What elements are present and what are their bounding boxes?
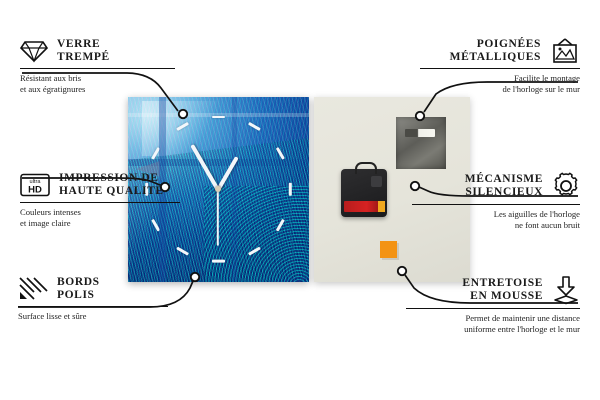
glass-gleam <box>142 101 225 157</box>
feature-rule <box>420 68 580 69</box>
hour-marker <box>212 116 225 119</box>
feature-title-line2: TREMPÉ <box>57 51 110 64</box>
feature-rule <box>412 204 580 205</box>
hour-marker <box>212 260 225 263</box>
feature-title-line1: VERRE <box>57 38 110 51</box>
feature-entretoise-en-mousse: ENTRETOISE EN MOUSSE Permet de maintenir… <box>380 276 580 334</box>
feature-title-line2: POLIS <box>57 289 100 302</box>
feature-rule <box>406 308 580 309</box>
diamond-icon <box>20 39 48 63</box>
feature-subtitle-line1: Surface lisse et sûre <box>18 311 193 321</box>
picture-hanger-icon <box>550 38 580 64</box>
feature-impression-haute-qualite: ultra HD IMPRESSION DE HAUTE QUALITÉ Cou… <box>20 172 205 228</box>
hour-marker <box>289 182 292 195</box>
grid-line-vertical <box>232 97 237 282</box>
feature-rule <box>18 306 168 307</box>
gear-icon <box>552 172 580 200</box>
hands-hub <box>215 186 221 192</box>
hour-marker <box>248 122 261 131</box>
feature-subtitle-line1: Facilite le montage <box>395 73 580 83</box>
mechanism-hook <box>355 162 377 174</box>
ultra-hd-icon: ultra HD <box>20 173 50 197</box>
feature-title-line2: SILENCIEUX <box>465 186 543 199</box>
feature-subtitle-line2: uniforme entre l'horloge et le mur <box>380 324 580 334</box>
feature-subtitle-line2: et image claire <box>20 218 205 228</box>
foam-spacer-icon <box>552 276 580 304</box>
feature-title-line1: BORDS <box>57 276 100 289</box>
foam-spacer <box>380 241 397 258</box>
feature-title-line1: MÉCANISME <box>465 173 543 186</box>
hanger-slot <box>405 129 435 137</box>
second-hand <box>217 190 219 246</box>
feature-rule <box>20 68 175 69</box>
feature-poignees-metalliques: POIGNÉES MÉTALLIQUES Facilite le montage… <box>395 38 580 94</box>
battery-terminal <box>378 201 385 212</box>
feature-title-line2: EN MOUSSE <box>462 290 543 303</box>
feature-title-line2: MÉTALLIQUES <box>450 51 541 64</box>
feature-title-line1: IMPRESSION DE <box>59 172 164 185</box>
feature-subtitle-line2: et aux égratignures <box>20 84 195 94</box>
mechanism-dial <box>371 176 382 187</box>
feature-title-line2: HAUTE QUALITÉ <box>59 185 164 198</box>
svg-text:HD: HD <box>28 185 42 196</box>
feature-subtitle-line1: Résistant aux bris <box>20 73 195 83</box>
polished-edges-icon <box>18 276 48 302</box>
feature-title-line1: POIGNÉES <box>450 38 541 51</box>
feature-subtitle-line1: Couleurs intenses <box>20 207 205 217</box>
feature-bords-polis: BORDS POLIS Surface lisse et sûre <box>18 276 193 322</box>
feature-title-line1: ENTRETOISE <box>462 277 543 290</box>
wave-pattern-secondary <box>204 186 309 282</box>
feature-subtitle-line2: de l'horloge sur le mur <box>395 84 580 94</box>
feature-mecanisme-silencieux: MÉCANISME SILENCIEUX Les aiguilles de l'… <box>390 172 580 230</box>
infographic-canvas: VERRE TREMPÉ Résistant aux bris et aux é… <box>0 0 600 400</box>
battery <box>344 201 382 212</box>
clock-mechanism <box>341 169 387 217</box>
feature-subtitle-line2: ne font aucun bruit <box>390 220 580 230</box>
feature-verre-trempe: VERRE TREMPÉ Résistant aux bris et aux é… <box>20 38 195 94</box>
metal-hanger-plate <box>396 117 446 169</box>
feature-subtitle-line1: Les aiguilles de l'horloge <box>390 209 580 219</box>
feature-subtitle-line1: Permet de maintenir une distance <box>380 313 580 323</box>
feature-rule <box>20 202 180 203</box>
